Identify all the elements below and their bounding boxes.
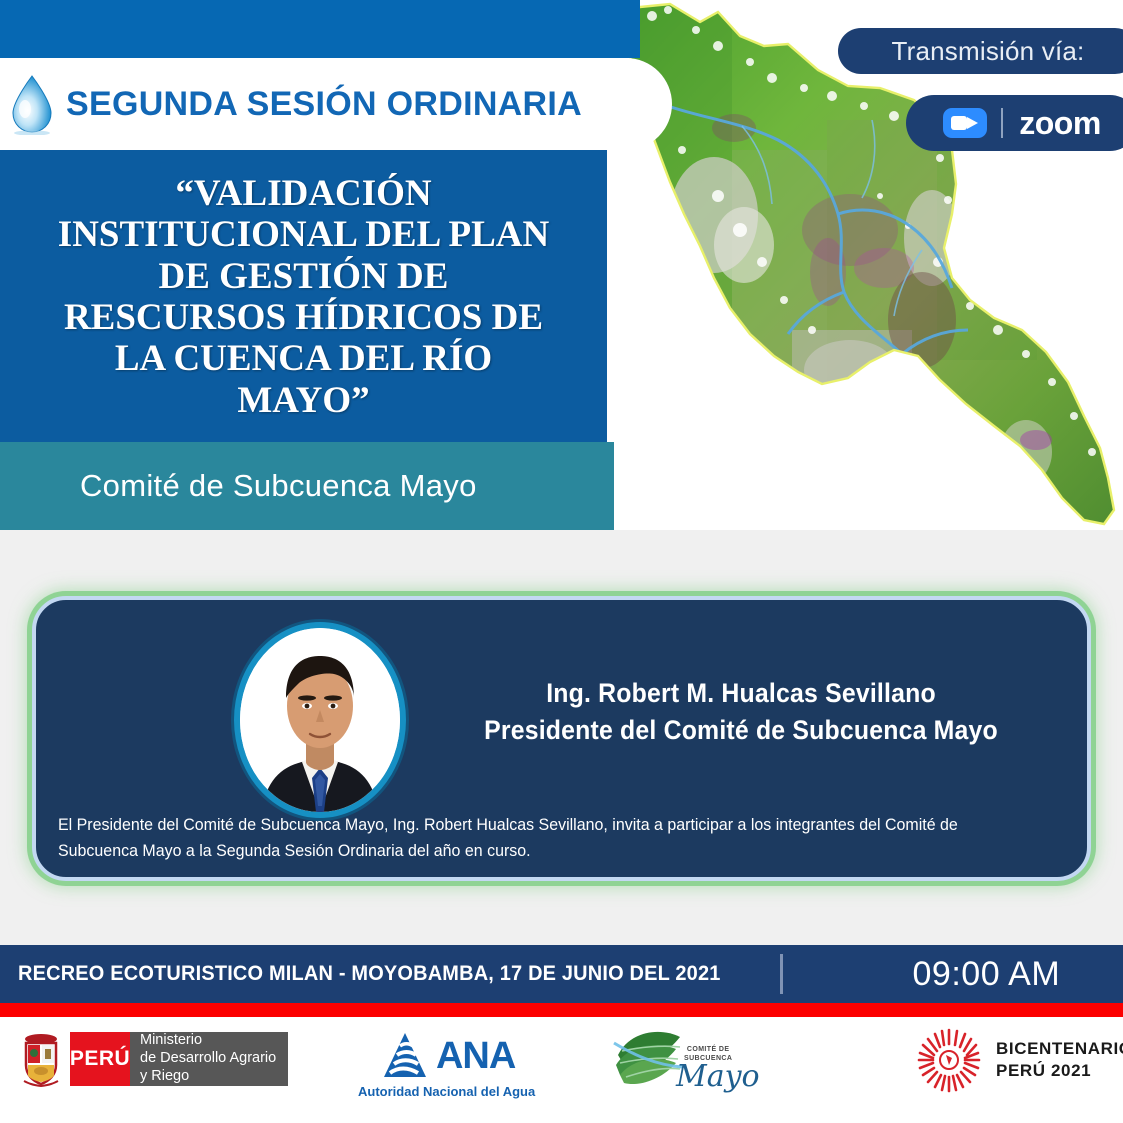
logo-bicentenario: BICENTENARIO PERÚ 2021 <box>916 1027 1123 1093</box>
title-line-4: RESCURSOS HÍDRICOS DE <box>58 297 549 338</box>
mayo-caption-line-1: COMITÉ DE <box>684 1045 732 1054</box>
ministry-line-3: y Riego <box>140 1068 276 1086</box>
speaker-name: Ing. Robert M. Hualcas Sevillano <box>451 678 1031 709</box>
ministry-wordmark: Ministerio de Desarrollo Agrario y Riego <box>130 1032 288 1086</box>
title-line-2: INSTITUCIONAL DEL PLAN <box>58 214 549 255</box>
event-poster: SEGUNDA SESIÓN ORDINARIA “VALIDACIÓN INS… <box>0 0 1123 1123</box>
speaker-portrait <box>240 628 400 812</box>
avatar <box>234 622 406 818</box>
event-title-block: “VALIDACIÓN INSTITUCIONAL DEL PLAN DE GE… <box>0 146 607 442</box>
watershed-map <box>622 0 1123 530</box>
bicentenario-sunburst-icon <box>916 1027 982 1093</box>
speaker-card: Ing. Robert M. Hualcas Sevillano Preside… <box>32 596 1091 881</box>
bicentenario-wordmark: BICENTENARIO PERÚ 2021 <box>996 1038 1123 1082</box>
ministry-line-1: Ministerio <box>140 1032 276 1050</box>
venue-divider <box>780 954 783 994</box>
speaker-info: Ing. Robert M. Hualcas Sevillano Preside… <box>426 678 1056 746</box>
broadcast-label-badge: Transmisión vía: <box>838 28 1123 74</box>
title-line-5: LA CUENCA DEL RÍO <box>58 338 549 379</box>
red-stripe <box>0 1003 1123 1017</box>
organization-name: Comité de Subcuenca Mayo <box>80 468 477 504</box>
ana-wave-icon <box>378 1029 432 1083</box>
organization-subtitle-block: Comité de Subcuenca Mayo <box>0 442 614 530</box>
title-line-1: “VALIDACIÓN <box>58 173 549 214</box>
video-camera-icon <box>943 108 987 138</box>
invitation-description: El Presidente del Comité de Subcuenca Ma… <box>58 812 1009 865</box>
event-time: 09:00 AM <box>913 955 1061 994</box>
mayo-basin-satellite-map <box>622 0 1123 530</box>
logo-ministerio-desarrollo-agrario: PERÚ Ministerio de Desarrollo Agrario y … <box>18 1031 288 1087</box>
footer: PERÚ Ministerio de Desarrollo Agrario y … <box>0 1017 1123 1123</box>
speaker-role: Presidente del Comité de Subcuenca Mayo <box>451 715 1031 746</box>
title-line-3: DE GESTIÓN DE <box>58 256 549 297</box>
bicentenario-line-1: BICENTENARIO <box>996 1038 1123 1060</box>
bicentenario-line-2: PERÚ 2021 <box>996 1060 1123 1082</box>
zoom-wordmark: zoom <box>1019 105 1101 142</box>
peru-label: PERÚ <box>70 1047 130 1071</box>
broadcast-label: Transmisión vía: <box>892 36 1085 67</box>
peru-wordmark: PERÚ <box>70 1032 130 1086</box>
logo-comite-subcuenca-mayo: COMITÉ DE SUBCUENCA Mayo <box>610 1025 760 1099</box>
ministry-line-2: de Desarrollo Agrario <box>140 1050 276 1068</box>
mayo-script-wordmark: Mayo <box>676 1059 760 1094</box>
page-title: SEGUNDA SESIÓN ORDINARIA <box>66 85 582 124</box>
peru-coat-of-arms-icon <box>18 1031 64 1087</box>
badge-divider <box>1001 108 1003 138</box>
footer-logos: PERÚ Ministerio de Desarrollo Agrario y … <box>0 1023 1123 1095</box>
title-line-6: MAYO” <box>58 380 549 421</box>
water-drop-icon <box>8 73 56 135</box>
ana-subtitle: Autoridad Nacional del Agua <box>358 1084 535 1099</box>
ana-acronym: ANA <box>436 1035 515 1078</box>
session-header-band: SEGUNDA SESIÓN ORDINARIA <box>0 58 672 150</box>
zoom-platform-badge[interactable]: zoom <box>906 95 1123 151</box>
venue-bar: RECREO ECOTURISTICO MILAN - MOYOBAMBA, 1… <box>0 945 1123 1003</box>
top-blue-bar <box>0 0 640 58</box>
ana-row: ANA <box>378 1029 515 1083</box>
logo-ana: ANA Autoridad Nacional del Agua <box>358 1029 535 1099</box>
venue-place-date: RECREO ECOTURISTICO MILAN - MOYOBAMBA, 1… <box>18 962 721 986</box>
